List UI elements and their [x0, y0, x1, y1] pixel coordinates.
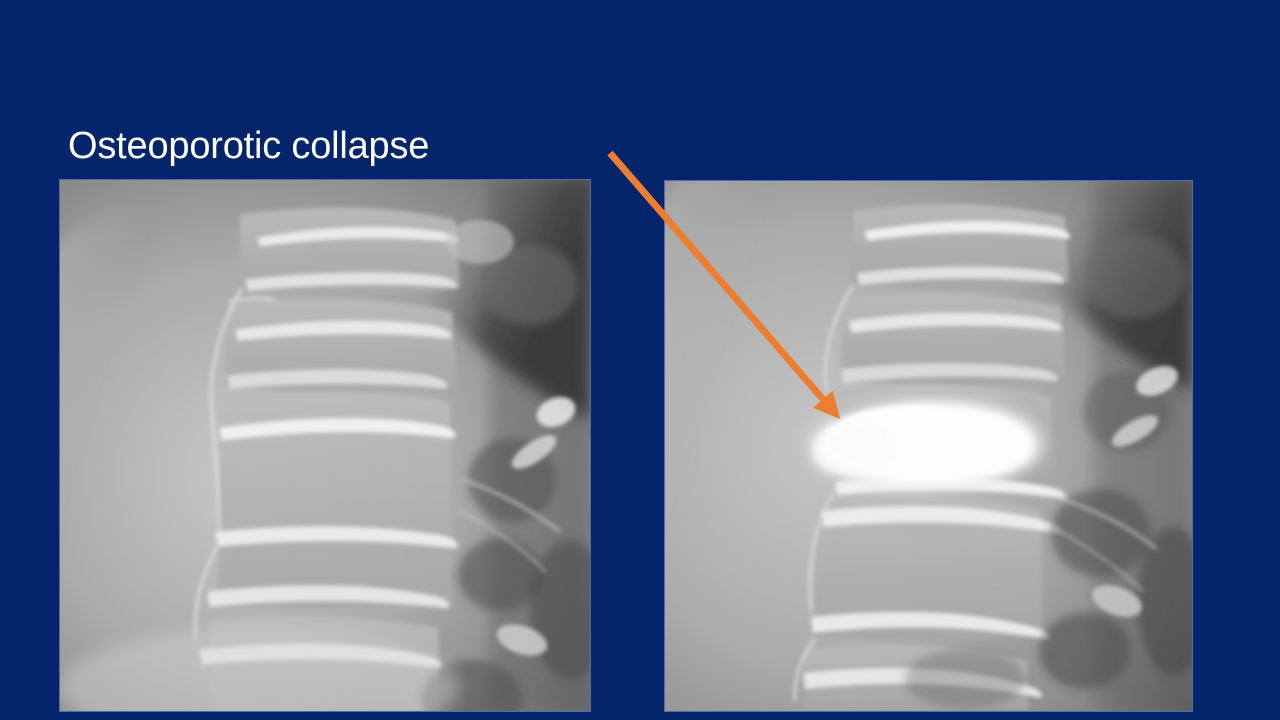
xray-image-right [665, 181, 1192, 711]
slide-canvas: Osteoporotic collapse Kyphoplasty [0, 0, 1280, 720]
title-line-1: Osteoporotic collapse [68, 122, 868, 171]
pre-operative-radiograph [60, 180, 590, 711]
post-kyphoplasty-radiograph [665, 181, 1192, 711]
xray-image-left [60, 180, 590, 711]
